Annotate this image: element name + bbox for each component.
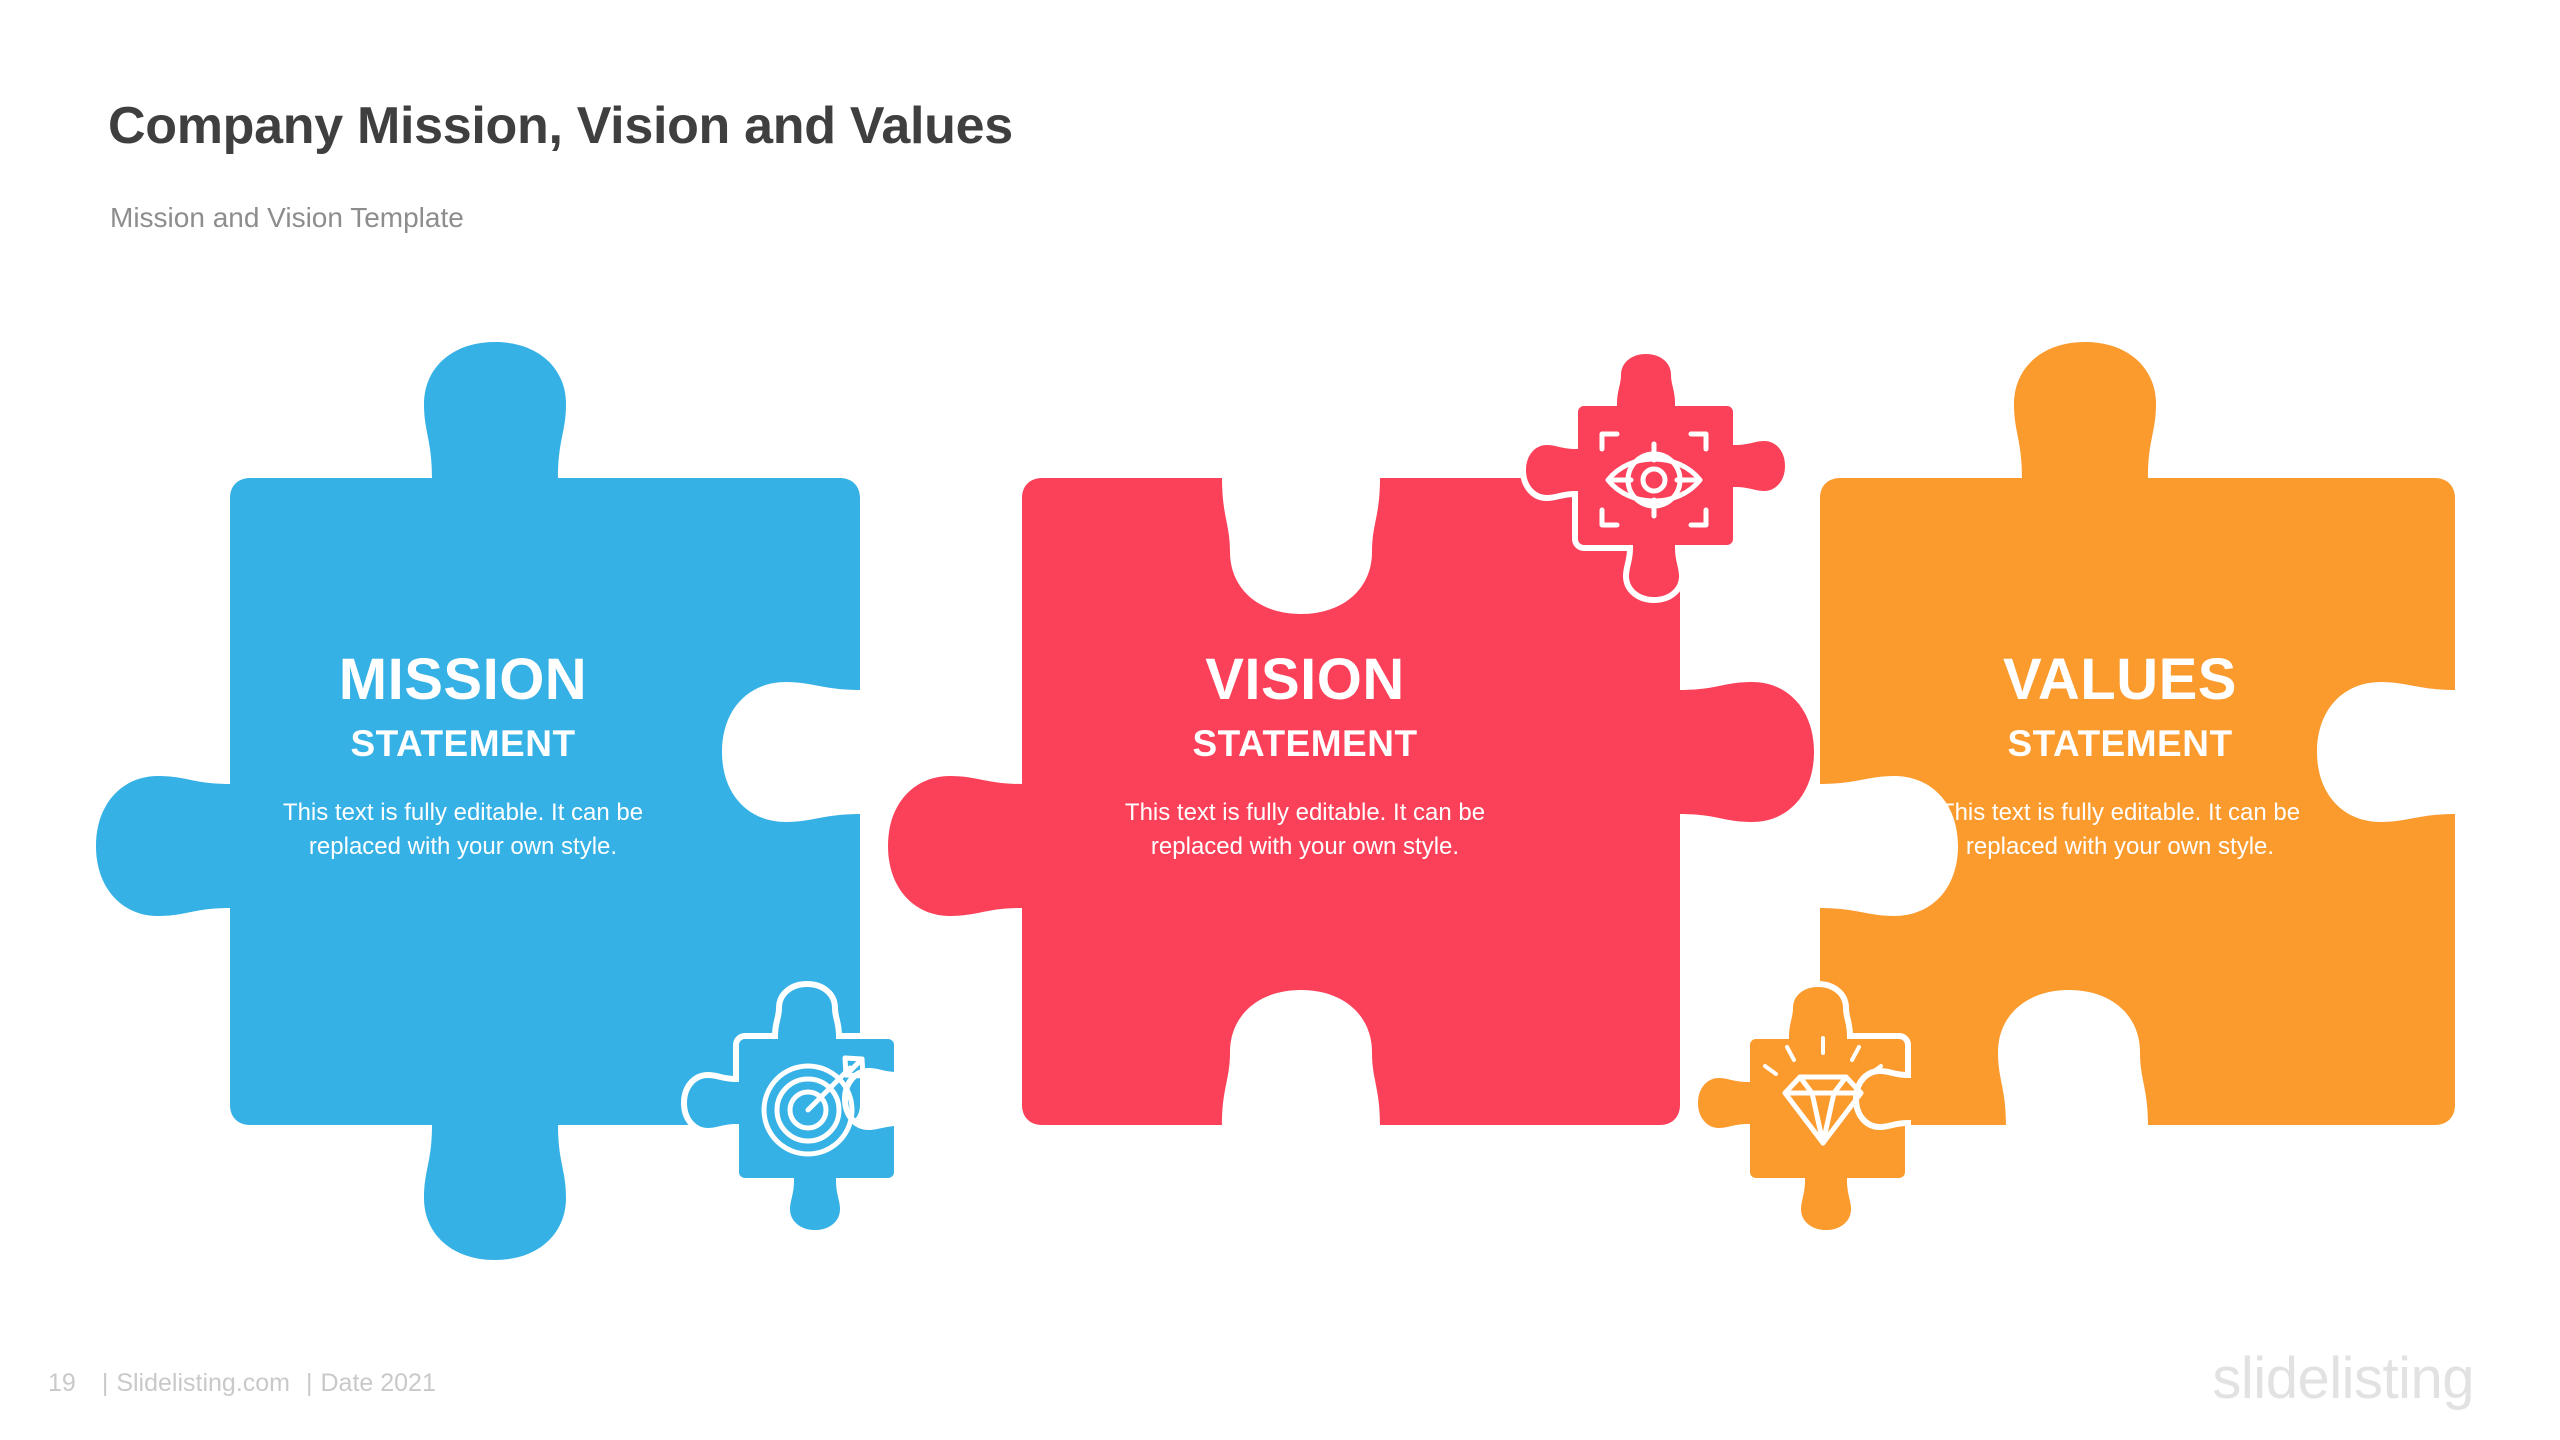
eye-target-icon — [1602, 434, 1706, 525]
mission-body: This text is fully editable. It can be r… — [243, 796, 683, 864]
diamond-gem-icon — [1765, 1038, 1881, 1143]
mission-text-block: MISSION STATEMENT This text is fully edi… — [243, 650, 683, 864]
footer-separator-1: | — [102, 1369, 109, 1398]
slide-canvas: Company Mission, Vision and Values Missi… — [0, 0, 2560, 1440]
footer-date: Date 2021 — [321, 1369, 436, 1398]
mission-small-piece-shape — [684, 984, 897, 1233]
values-text-block: VALUES STATEMENT This text is fully edit… — [1900, 650, 2340, 864]
values-title: VALUES — [1900, 650, 2340, 711]
values-icon-piece[interactable] — [1695, 984, 1908, 1233]
target-arrow-icon — [764, 1058, 863, 1154]
vision-title: VISION — [1085, 650, 1525, 711]
values-small-piece-shape — [1695, 984, 1908, 1233]
page-subtitle: Mission and Vision Template — [110, 202, 464, 234]
footer: 19 | Slidelisting.com | Date 2021 — [48, 1369, 436, 1398]
vision-subtitle: STATEMENT — [1085, 725, 1525, 764]
values-subtitle: STATEMENT — [1900, 725, 2340, 764]
brand-logo: slidelisting — [2212, 1345, 2474, 1412]
mission-subtitle: STATEMENT — [243, 725, 683, 764]
page-title: Company Mission, Vision and Values — [108, 96, 1013, 156]
vision-small-piece-shape — [1523, 351, 1788, 600]
vision-icon-piece[interactable] — [1523, 351, 1788, 600]
mission-title: MISSION — [243, 650, 683, 711]
footer-separator-2: | — [306, 1369, 313, 1398]
values-body: This text is fully editable. It can be r… — [1900, 796, 2340, 864]
vision-body: This text is fully editable. It can be r… — [1085, 796, 1525, 864]
page-number: 19 — [48, 1369, 76, 1398]
vision-text-block: VISION STATEMENT This text is fully edit… — [1085, 650, 1525, 864]
footer-site: Slidelisting.com — [116, 1369, 290, 1398]
mission-icon-piece[interactable] — [684, 984, 897, 1233]
